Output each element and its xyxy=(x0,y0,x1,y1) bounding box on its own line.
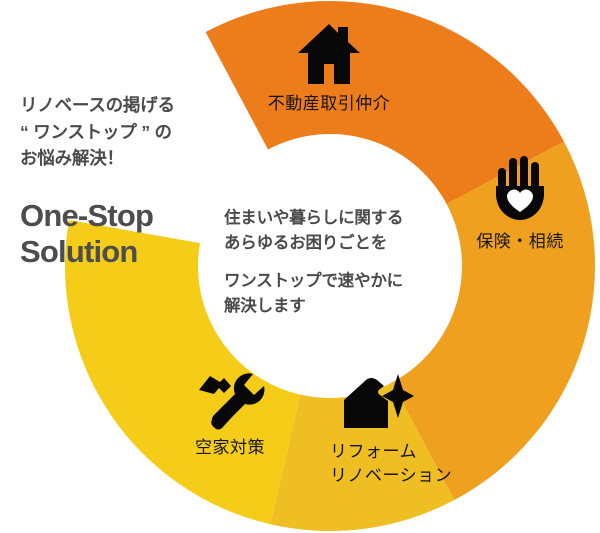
left-text-block: リノベースの掲げる “ ワンストップ ” の お悩み解決！ One-Stop S… xyxy=(20,92,230,271)
house-icon xyxy=(244,22,414,86)
center-p1-line-2: あらゆるお困りごとを xyxy=(224,231,444,256)
hammer-wrench-icon xyxy=(150,368,310,430)
segment-label-text-real-estate: 不動産取引仲介 xyxy=(244,92,414,116)
headline-line-1: One-Stop xyxy=(20,198,230,235)
segment-label-real-estate[interactable]: 不動産取引仲介 xyxy=(244,22,414,116)
segment-label-text-reform-line1: リフォーム xyxy=(330,440,500,464)
segment-label-insurance[interactable]: 保険・相続 xyxy=(455,152,585,254)
segment-label-text-reform-line2: リノベーション xyxy=(330,464,500,488)
infographic-canvas: リノベースの掲げる “ ワンストップ ” の お悩み解決！ One-Stop S… xyxy=(0,0,600,533)
segment-label-akiya[interactable]: 空家対策 xyxy=(150,368,310,460)
center-text-block: 住まいや暮らしに関する あらゆるお困りごとを ワンストップで速やかに 解決します xyxy=(224,206,444,319)
center-p2-line-1: ワンストップで速やかに xyxy=(224,269,444,294)
lead-line-3: お悩み解決！ xyxy=(20,145,230,172)
segment-label-reform[interactable]: リフォーム リノベーション xyxy=(330,372,500,488)
hand-heart-icon xyxy=(455,152,585,224)
headline-block: One-Stop Solution xyxy=(20,198,230,271)
center-p1-line-1: 住まいや暮らしに関する xyxy=(224,206,444,231)
lead-line-2: “ ワンストップ ” の xyxy=(20,119,230,146)
center-p2-line-2: 解決します xyxy=(224,294,444,319)
house-sparkle-icon xyxy=(336,372,500,434)
center-paragraph-gap xyxy=(224,256,444,269)
segment-label-text-akiya: 空家対策 xyxy=(150,436,310,460)
headline-line-2: Solution xyxy=(20,234,230,271)
lead-line-1: リノベースの掲げる xyxy=(20,92,230,119)
segment-label-text-insurance: 保険・相続 xyxy=(455,230,585,254)
